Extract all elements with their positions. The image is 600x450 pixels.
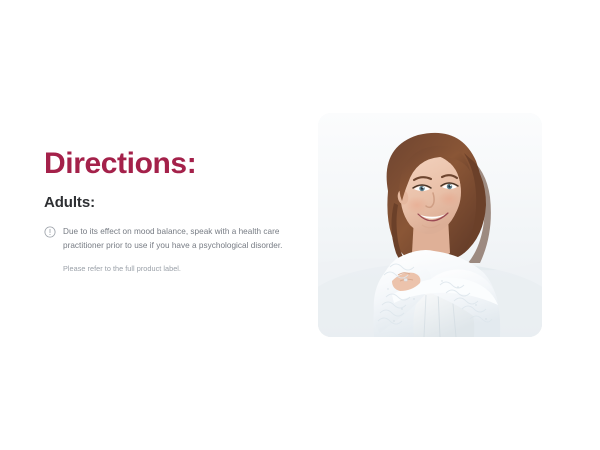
info-circle-icon: [44, 226, 56, 238]
subsection-heading-adults: Adults:: [44, 194, 294, 211]
product-label-footnote: Please refer to the full product label.: [63, 264, 294, 275]
advisory-text: Due to its effect on mood balance, speak…: [63, 225, 294, 252]
directions-panel: Directions: Adults: Due to its effect on…: [0, 0, 600, 450]
smiling-woman-photo: [318, 113, 542, 337]
advisory-note: Due to its effect on mood balance, speak…: [44, 225, 294, 252]
page-title: Directions:: [44, 148, 294, 180]
text-column: Directions: Adults: Due to its effect on…: [44, 148, 294, 275]
